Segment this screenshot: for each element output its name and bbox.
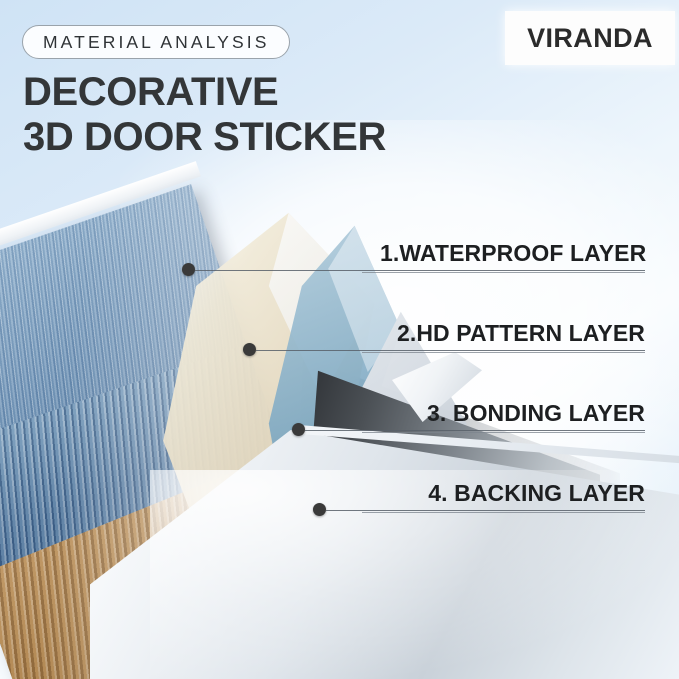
callout-dot-4 [313,503,326,516]
brand-logo: VIRANDA [505,11,675,65]
page-title: DECORATIVE 3D DOOR STICKER [23,70,386,160]
callout-label-3: 3. BONDING LAYER [380,400,645,427]
callout-underline-3 [362,432,645,433]
callout-underline-2 [362,352,645,353]
callout-label-2: 2.HD PATTERN LAYER [380,320,645,347]
callout-leader-line-1 [195,270,645,271]
callout-underline-4 [362,512,645,513]
material-analysis-badge: MATERIAL ANALYSIS [22,25,290,59]
callout-label-4: 4. BACKING LAYER [380,480,645,507]
callout-leader-line-3 [305,430,645,431]
product-infographic-poster: MATERIAL ANALYSIS DECORATIVE 3D DOOR STI… [0,0,679,679]
callout-leader-line-2 [256,350,645,351]
callout-dot-3 [292,423,305,436]
badge-label: MATERIAL ANALYSIS [43,32,269,53]
page-title-line-1: DECORATIVE [23,70,278,114]
brand-logo-text: VIRANDA [527,23,653,54]
page-title-line-2: 3D DOOR STICKER [23,115,386,160]
callout-dot-2 [243,343,256,356]
callout-dot-1 [182,263,195,276]
callout-leader-line-4 [326,510,645,511]
callout-label-1: 1.WATERPROOF LAYER [380,240,645,267]
callout-underline-1 [362,272,645,273]
